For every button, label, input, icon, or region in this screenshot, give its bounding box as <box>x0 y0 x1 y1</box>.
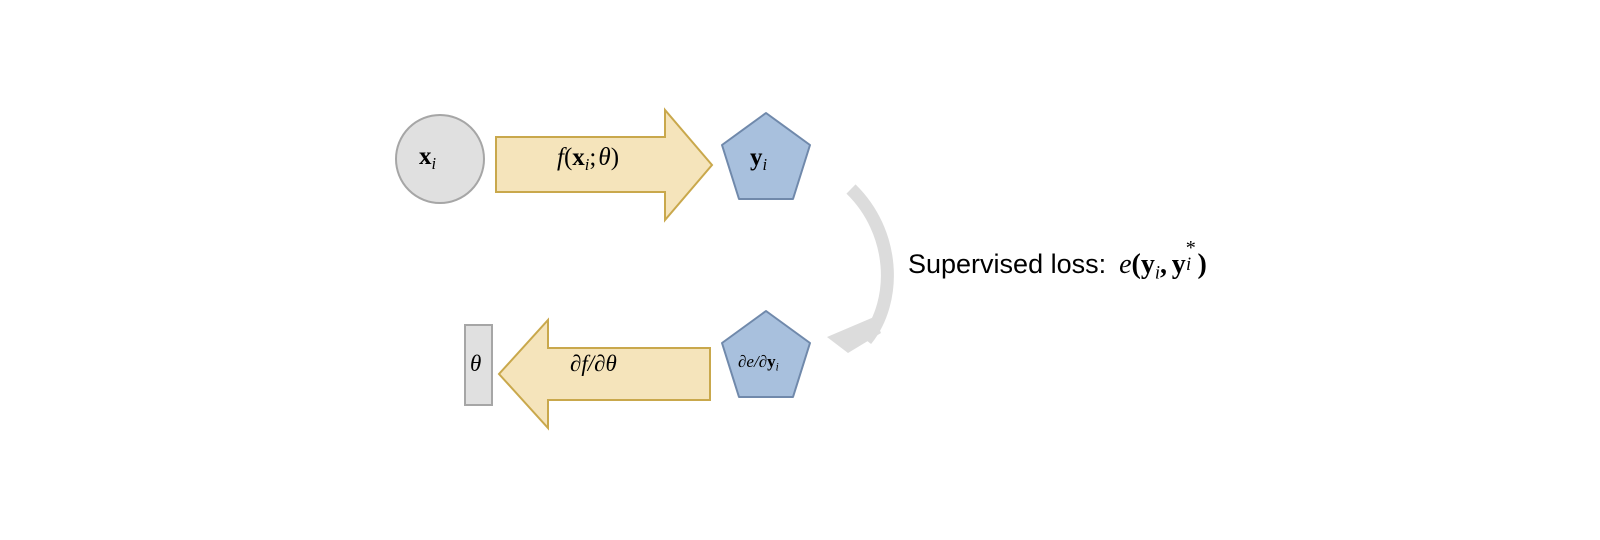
gradient-node-pentagon <box>722 311 810 397</box>
forward-transform-arrow <box>496 110 712 220</box>
diagram-canvas <box>0 0 1600 540</box>
backward-gradient-arrow <box>499 320 710 428</box>
input-node-circle <box>396 115 484 203</box>
param-node-rect <box>465 325 492 405</box>
output-node-pentagon <box>722 113 810 199</box>
loss-flow-curved-arrow <box>827 189 887 353</box>
